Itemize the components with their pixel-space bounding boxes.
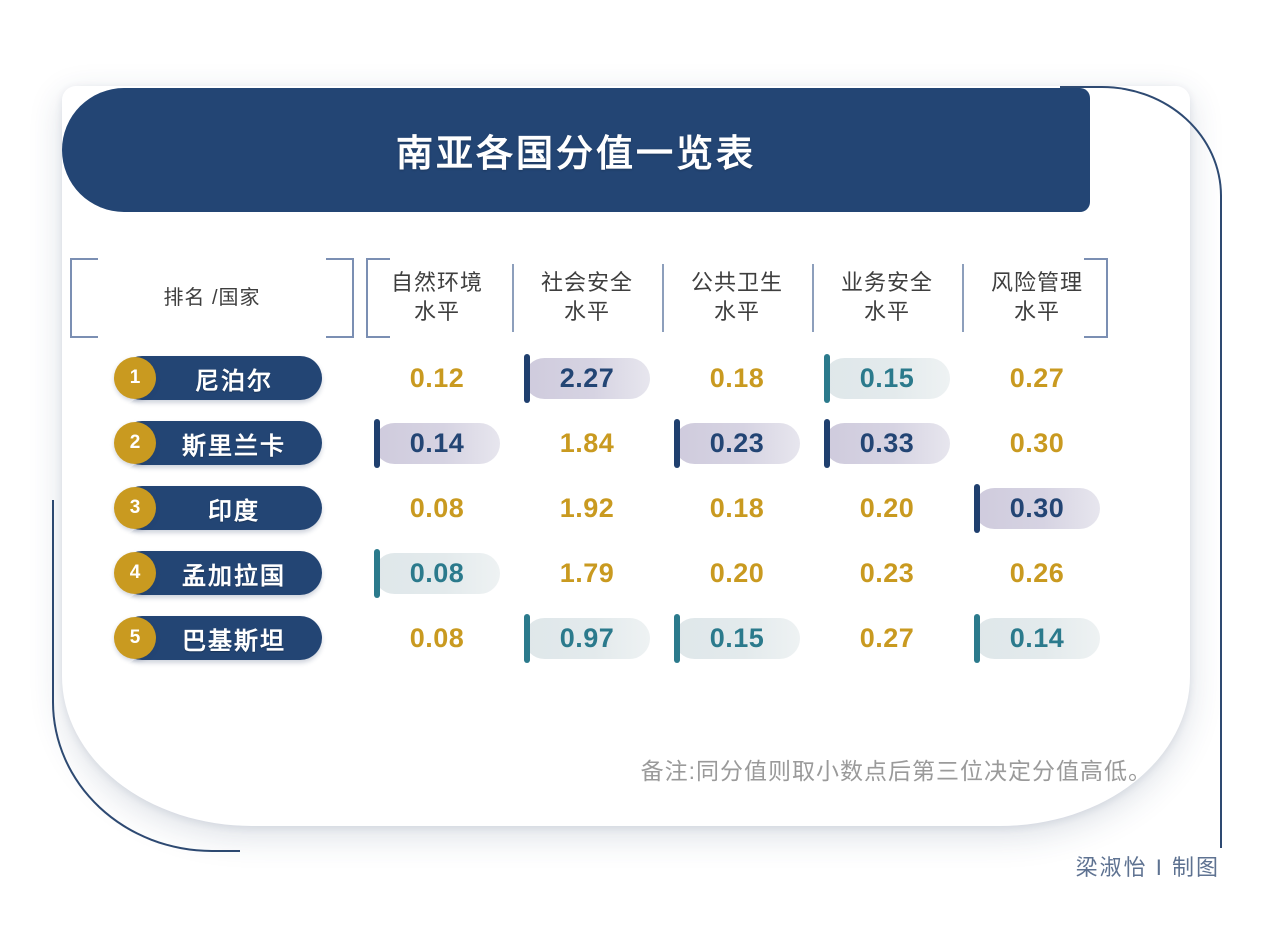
score-value: 0.08	[410, 623, 465, 654]
score-value: 0.30	[1010, 493, 1065, 524]
column-divider	[962, 264, 964, 332]
score-cell: 0.08	[362, 606, 512, 671]
score-value: 1.92	[560, 493, 615, 524]
bracket-left-icon	[70, 258, 98, 338]
score-value: 0.20	[710, 558, 765, 589]
highlight-bar	[674, 419, 680, 468]
table-row: 印度30.081.920.180.200.30	[62, 476, 1190, 541]
highlight-bar	[974, 484, 980, 533]
rank-badge: 4	[114, 552, 156, 594]
column-divider	[512, 264, 514, 332]
score-value: 0.15	[860, 363, 915, 394]
highlight-bar	[374, 419, 380, 468]
country-label: 巴基斯坦	[156, 621, 286, 656]
score-cell: 0.08	[362, 541, 512, 606]
score-cell: 0.18	[662, 346, 812, 411]
score-value: 0.14	[1010, 623, 1065, 654]
column-divider	[662, 264, 664, 332]
score-value: 0.15	[710, 623, 765, 654]
score-cell: 0.26	[962, 541, 1112, 606]
highlight-bar	[824, 419, 830, 468]
credit-line: 梁淑怡 I 制图	[62, 850, 1220, 882]
score-cell: 0.14	[362, 411, 512, 476]
highlight-bar	[974, 614, 980, 663]
country-label: 孟加拉国	[156, 556, 286, 591]
score-value: 0.12	[410, 363, 465, 394]
score-value: 2.27	[560, 363, 615, 394]
highlight-bar	[674, 614, 680, 663]
header-col-3-line2: 水平	[864, 299, 910, 324]
score-value: 0.33	[860, 428, 915, 459]
score-cell: 1.84	[512, 411, 662, 476]
rank-country-cell: 印度3	[62, 476, 362, 541]
highlight-bar	[524, 614, 530, 663]
country-label: 斯里兰卡	[156, 426, 286, 461]
score-value: 1.84	[560, 428, 615, 459]
score-value: 0.30	[1010, 428, 1065, 459]
score-cell: 0.20	[812, 476, 962, 541]
header-col-3: 业务安全 水平	[812, 250, 962, 346]
header-col-4: 风险管理 水平	[962, 250, 1112, 346]
header-col-2: 公共卫生 水平	[662, 250, 812, 346]
rank-country-cell: 孟加拉国4	[62, 541, 362, 606]
bracket-right-icon	[1084, 258, 1108, 338]
column-divider	[812, 264, 814, 332]
score-value: 0.23	[860, 558, 915, 589]
header-col-2-line1: 公共卫生	[691, 270, 783, 295]
score-cell: 0.15	[662, 606, 812, 671]
score-value: 0.18	[710, 363, 765, 394]
header-col-0-line2: 水平	[414, 299, 460, 324]
score-cell: 0.33	[812, 411, 962, 476]
header-col-0: 自然环境 水平	[362, 250, 512, 346]
rank-country-cell: 斯里兰卡2	[62, 411, 362, 476]
table-header-row: 排名 /国家 自然环境 水平 社会安全 水平 公共卫生 水平	[62, 250, 1190, 346]
score-cell: 2.27	[512, 346, 662, 411]
page-title: 南亚各国分值一览表	[396, 123, 756, 177]
header-col-0-label: 自然环境 水平	[391, 269, 483, 326]
rank-country-cell: 尼泊尔1	[62, 346, 362, 411]
score-cell: 0.08	[362, 476, 512, 541]
table-body: 尼泊尔10.122.270.180.150.27斯里兰卡20.141.840.2…	[62, 346, 1190, 671]
rank-badge: 5	[114, 617, 156, 659]
highlight-bar	[824, 354, 830, 403]
header-col-4-label: 风险管理 水平	[991, 269, 1083, 326]
score-value: 0.08	[410, 493, 465, 524]
score-cell: 0.27	[812, 606, 962, 671]
score-cell: 0.23	[812, 541, 962, 606]
bracket-left-icon	[366, 258, 390, 338]
header-col-3-label: 业务安全 水平	[841, 269, 933, 326]
score-value: 1.79	[560, 558, 615, 589]
header-col-1-label: 社会安全 水平	[541, 269, 633, 326]
score-value: 0.08	[410, 558, 465, 589]
country-label: 尼泊尔	[169, 361, 273, 396]
score-cell: 0.12	[362, 346, 512, 411]
score-value: 0.23	[710, 428, 765, 459]
table-row: 孟加拉国40.081.790.200.230.26	[62, 541, 1190, 606]
score-cell: 0.15	[812, 346, 962, 411]
rank-badge: 1	[114, 357, 156, 399]
header-rank-country: 排名 /国家	[62, 250, 362, 346]
score-cell: 0.97	[512, 606, 662, 671]
highlight-bar	[374, 549, 380, 598]
header-col-4-line2: 水平	[1014, 299, 1060, 324]
score-cell: 0.14	[962, 606, 1112, 671]
rank-badge: 3	[114, 487, 156, 529]
header-col-1-line1: 社会安全	[541, 270, 633, 295]
table-row: 巴基斯坦50.080.970.150.270.14	[62, 606, 1190, 671]
header-col-1-line2: 水平	[564, 299, 610, 324]
score-value: 0.27	[860, 623, 915, 654]
score-value: 0.27	[1010, 363, 1065, 394]
header-col-1: 社会安全 水平	[512, 250, 662, 346]
score-value: 0.97	[560, 623, 615, 654]
score-cell: 1.92	[512, 476, 662, 541]
score-cell: 1.79	[512, 541, 662, 606]
rank-country-cell: 巴基斯坦5	[62, 606, 362, 671]
score-cell: 0.18	[662, 476, 812, 541]
highlight-bar	[524, 354, 530, 403]
score-value: 0.26	[1010, 558, 1065, 589]
header-col-2-line2: 水平	[714, 299, 760, 324]
score-cell: 0.20	[662, 541, 812, 606]
header-col-2-label: 公共卫生 水平	[691, 269, 783, 326]
score-value: 0.14	[410, 428, 465, 459]
score-value: 0.18	[710, 493, 765, 524]
header-rank-country-label: 排名 /国家	[163, 285, 260, 311]
table-row: 斯里兰卡20.141.840.230.330.30	[62, 411, 1190, 476]
score-table: 排名 /国家 自然环境 水平 社会安全 水平 公共卫生 水平	[62, 250, 1190, 671]
table-row: 尼泊尔10.122.270.180.150.27	[62, 346, 1190, 411]
score-value: 0.20	[860, 493, 915, 524]
footnote: 备注:同分值则取小数点后第三位决定分值高低。	[62, 752, 1152, 786]
header-col-3-line1: 业务安全	[841, 270, 933, 295]
score-cell: 0.27	[962, 346, 1112, 411]
score-cell: 0.30	[962, 476, 1112, 541]
header-col-0-line1: 自然环境	[391, 270, 483, 295]
rank-badge: 2	[114, 422, 156, 464]
score-cell: 0.30	[962, 411, 1112, 476]
header-col-4-line1: 风险管理	[991, 270, 1083, 295]
country-label: 印度	[182, 491, 260, 526]
score-cell: 0.23	[662, 411, 812, 476]
title-banner: 南亚各国分值一览表	[62, 88, 1090, 212]
bracket-right-icon	[326, 258, 354, 338]
